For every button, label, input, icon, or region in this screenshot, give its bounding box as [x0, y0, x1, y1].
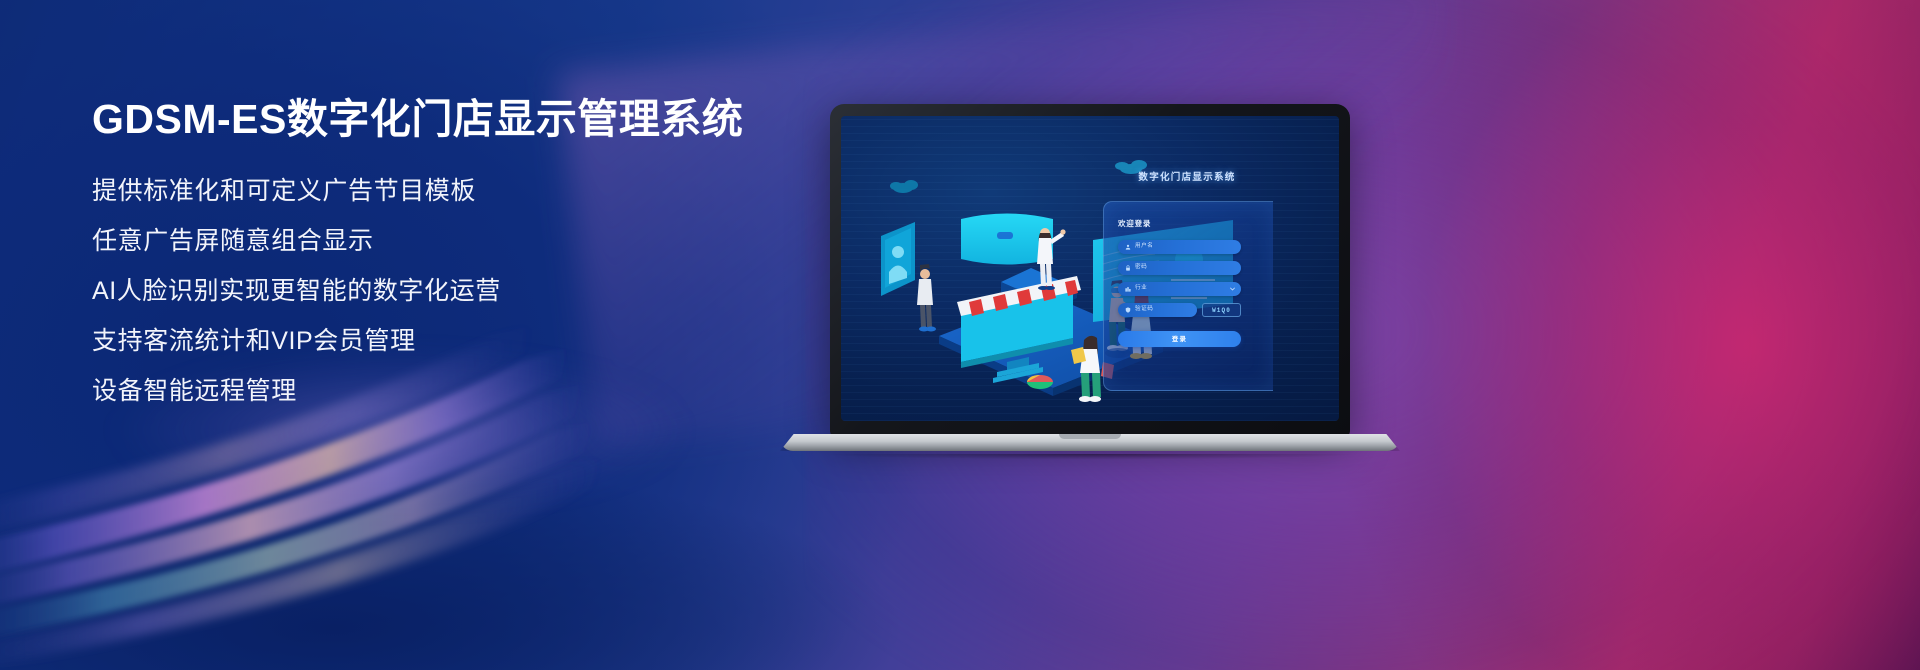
user-icon — [1125, 244, 1131, 250]
captcha-input[interactable]: 验证码 — [1118, 303, 1197, 317]
laptop-screen: 数字化门店显示系统 欢迎登录 用户名 密码 — [841, 116, 1339, 421]
laptop-lid: 数字化门店显示系统 欢迎登录 用户名 密码 — [830, 104, 1350, 437]
list-item: 支持客流统计和VIP会员管理 — [92, 329, 812, 354]
lock-icon — [1125, 265, 1131, 271]
login-card: 欢迎登录 用户名 密码 — [1103, 201, 1273, 391]
captcha-placeholder: 验证码 — [1135, 307, 1153, 313]
login-button[interactable]: 登录 — [1118, 331, 1241, 347]
laptop-base — [780, 434, 1400, 451]
username-placeholder: 用户名 — [1135, 244, 1153, 250]
industry-placeholder: 行业 — [1135, 286, 1147, 292]
chevron-down-icon — [1230, 288, 1235, 291]
list-item: AI人脸识别实现更智能的数字化运营 — [92, 279, 812, 304]
laptop-mockup: 数字化门店显示系统 欢迎登录 用户名 密码 — [780, 104, 1400, 454]
laptop-drop-shadow — [774, 454, 1406, 467]
login-heading: 欢迎登录 — [1118, 218, 1273, 229]
laptop-base-notch — [1059, 434, 1121, 439]
banner-copy: GDSM-ES数字化门店显示管理系统 提供标准化和可定义广告节目模板 任意广告屏… — [92, 96, 812, 404]
page-title: GDSM-ES数字化门店显示管理系统 — [92, 96, 812, 143]
shield-icon — [1125, 307, 1131, 313]
password-input[interactable]: 密码 — [1118, 261, 1241, 275]
screen-app-title: 数字化门店显示系统 — [1117, 169, 1257, 183]
username-input[interactable]: 用户名 — [1118, 240, 1241, 254]
promo-banner: GDSM-ES数字化门店显示管理系统 提供标准化和可定义广告节目模板 任意广告屏… — [0, 0, 1920, 670]
password-placeholder: 密码 — [1135, 265, 1147, 271]
list-item: 设备智能远程管理 — [92, 379, 812, 404]
industry-select[interactable]: 行业 — [1118, 282, 1241, 296]
list-item: 任意广告屏随意组合显示 — [92, 229, 812, 254]
captcha-row: 验证码 W1Q0 — [1118, 303, 1273, 317]
list-item: 提供标准化和可定义广告节目模板 — [92, 179, 812, 204]
feature-list: 提供标准化和可定义广告节目模板 任意广告屏随意组合显示 AI人脸识别实现更智能的… — [92, 179, 812, 404]
captcha-image[interactable]: W1Q0 — [1202, 303, 1241, 317]
industry-icon — [1125, 286, 1131, 292]
